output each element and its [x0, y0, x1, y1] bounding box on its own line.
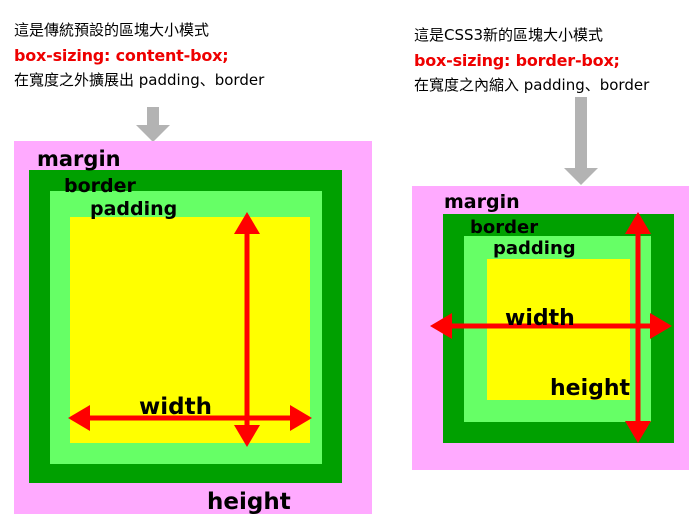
arrow-shaft — [147, 107, 159, 127]
diagram-canvas: 這是傳統預設的區塊大小模式 box-sizing: content-box; 在… — [0, 0, 700, 514]
label-height: height — [550, 378, 630, 400]
caption-border-box: 這是CSS3新的區塊大小模式 box-sizing: border-box; 在… — [414, 23, 649, 98]
label-margin: margin — [37, 149, 121, 170]
caption-right-code: box-sizing: border-box; — [414, 48, 649, 73]
box-model-content-box: margin border padding width height — [14, 141, 372, 514]
label-height: height — [207, 491, 291, 514]
height-measure-arrow — [233, 212, 261, 447]
label-width: width — [505, 308, 575, 330]
arrow-head-right — [290, 405, 312, 431]
arrow-head — [564, 168, 598, 185]
arrow-shaft — [575, 97, 587, 170]
box-model-border-box: margin border padding width height — [412, 186, 689, 470]
arrow-shaft — [245, 225, 250, 434]
arrow-down-icon — [564, 97, 598, 185]
label-border: border — [470, 219, 538, 237]
caption-left-code: box-sizing: content-box; — [14, 43, 264, 68]
caption-left-line-3: 在寬度之外擴展出 padding、border — [14, 68, 264, 93]
caption-right-line-3: 在寬度之內縮入 padding、border — [414, 73, 649, 98]
caption-left-line-1: 這是傳統預設的區塊大小模式 — [14, 18, 264, 43]
label-width: width — [139, 396, 212, 419]
caption-right-line-1: 這是CSS3新的區塊大小模式 — [414, 23, 649, 48]
caption-content-box: 這是傳統預設的區塊大小模式 box-sizing: content-box; 在… — [14, 18, 264, 93]
label-padding: padding — [90, 200, 177, 219]
label-margin: margin — [444, 193, 520, 212]
arrow-head — [136, 125, 170, 142]
label-padding: padding — [493, 240, 576, 258]
height-measure-arrow — [624, 212, 652, 443]
label-border: border — [64, 177, 136, 196]
arrow-shaft — [636, 225, 641, 430]
arrow-head-down — [234, 425, 260, 447]
arrow-head-down — [625, 421, 651, 443]
arrow-down-icon — [136, 107, 170, 142]
arrow-head-right — [650, 313, 672, 339]
